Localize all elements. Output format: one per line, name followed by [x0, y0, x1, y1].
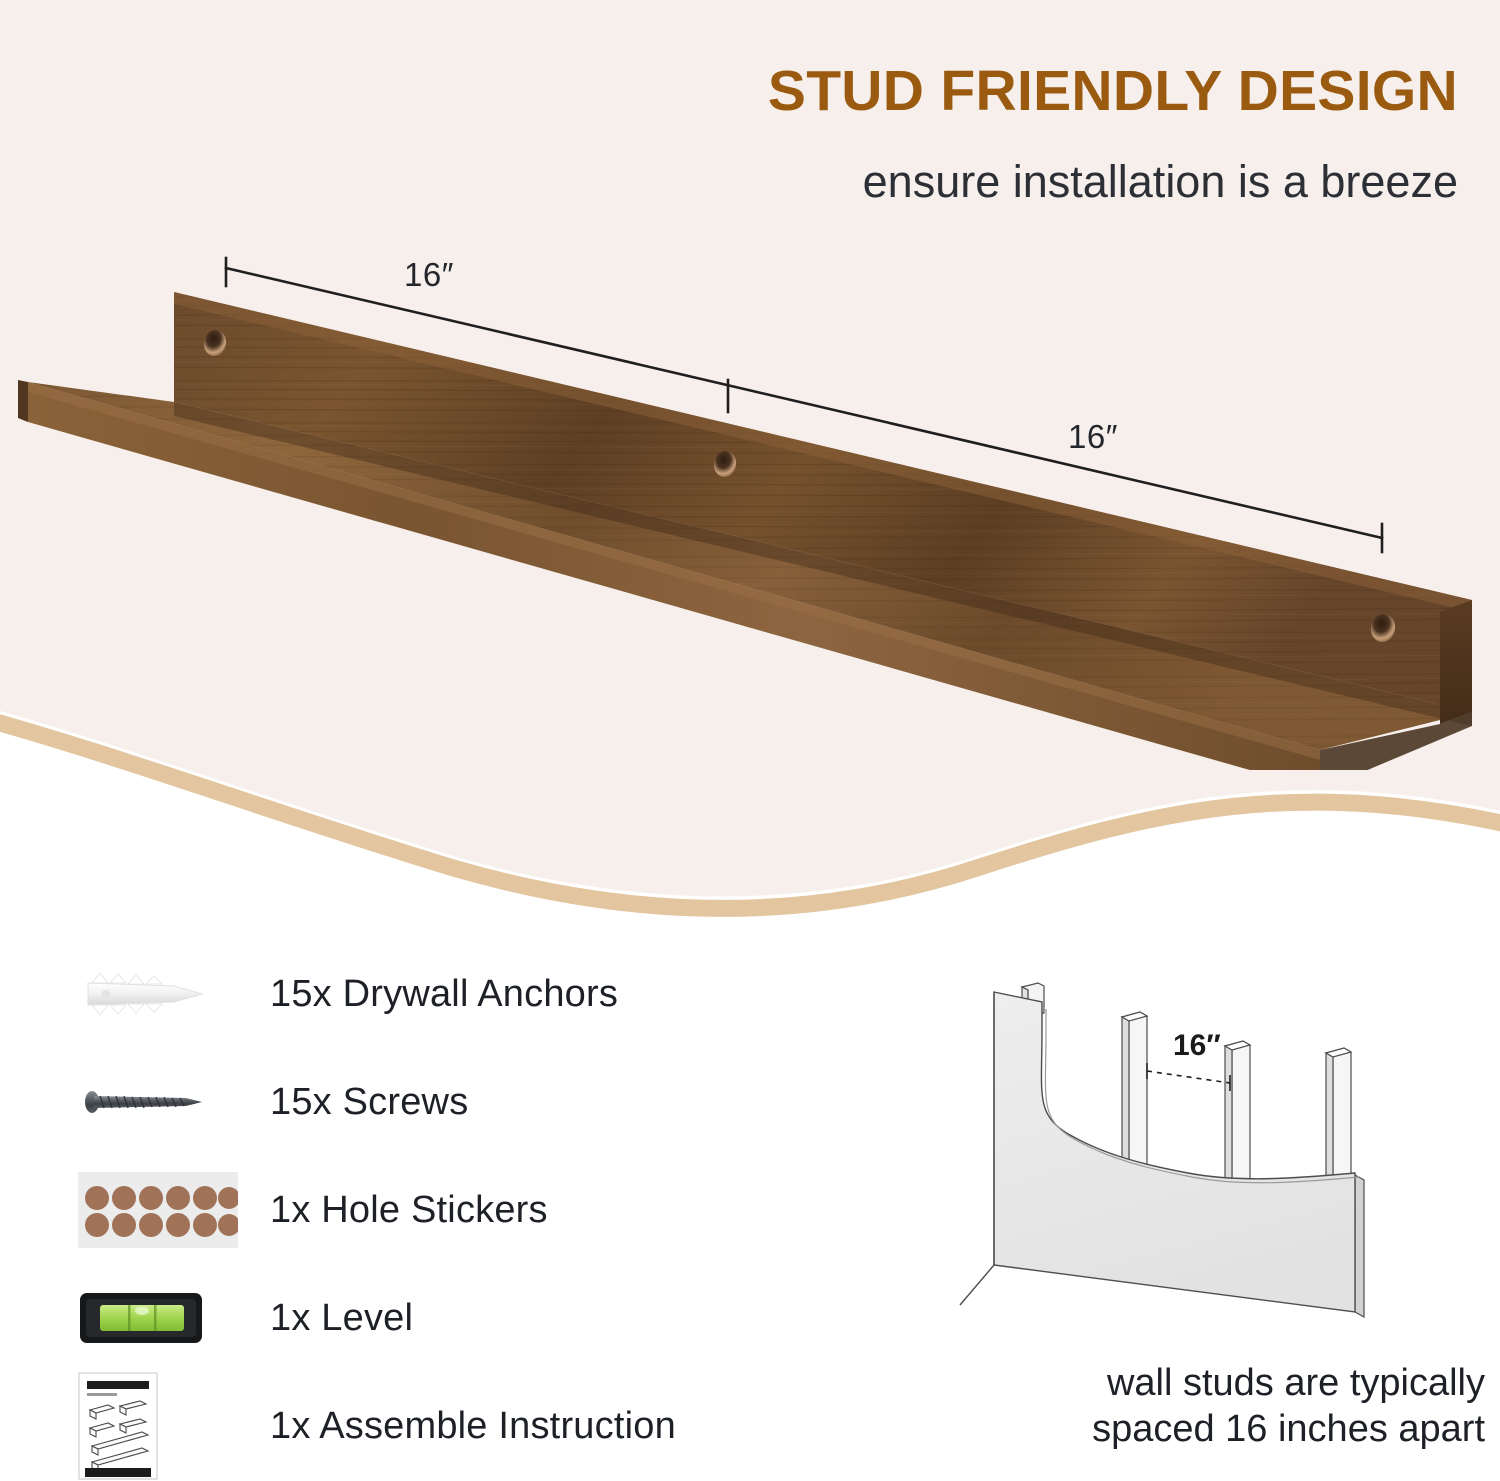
dimension-label-left: 16″: [404, 256, 454, 294]
accessory-label: 1x Hole Stickers: [270, 1189, 548, 1232]
accessory-row: 15x Screws: [70, 1048, 880, 1156]
stud-caption-line-1: wall studs are typically: [900, 1360, 1485, 1406]
stud-4: [1326, 1048, 1351, 1188]
stud-dimension: [1147, 1063, 1230, 1091]
accessory-label: 15x Screws: [270, 1081, 468, 1124]
accessory-row: 1x Level: [70, 1264, 880, 1372]
dimension-label-right: 16″: [1068, 418, 1118, 456]
stud-wall-diagram: 16″: [930, 975, 1490, 1320]
screw-icon: [70, 1080, 270, 1124]
stud-3: [1225, 1041, 1250, 1192]
dimension-leader-line: [226, 268, 1382, 538]
infographic-page: STUD FRIENDLY DESIGN ensure installation…: [0, 0, 1500, 1481]
accessory-label: 15x Drywall Anchors: [270, 973, 618, 1016]
floor-line: [960, 1265, 994, 1305]
stud-caption: wall studs are typically spaced 16 inche…: [900, 1360, 1485, 1453]
bubble-level-icon: [70, 1287, 270, 1349]
instruction-manual-icon: [70, 1372, 270, 1480]
hole-stickers-icon: [70, 1170, 270, 1250]
accessory-row: 1x Assemble Instruction: [70, 1372, 880, 1480]
drywall-panel: [960, 992, 1364, 1317]
accessory-label: 1x Level: [270, 1297, 413, 1340]
drywall-anchor-icon: [70, 963, 270, 1025]
accessory-row: 15x Drywall Anchors: [70, 940, 880, 1048]
stud-caption-line-2: spaced 16 inches apart: [900, 1406, 1485, 1452]
accessory-row: 1x Hole Stickers: [70, 1156, 880, 1264]
accessories-list: 15x Drywall Anchors: [70, 940, 880, 1480]
dimension-overlay: [0, 0, 1500, 800]
stud-dimension-label: 16″: [1173, 1029, 1221, 1062]
accessory-label: 1x Assemble Instruction: [270, 1405, 676, 1448]
